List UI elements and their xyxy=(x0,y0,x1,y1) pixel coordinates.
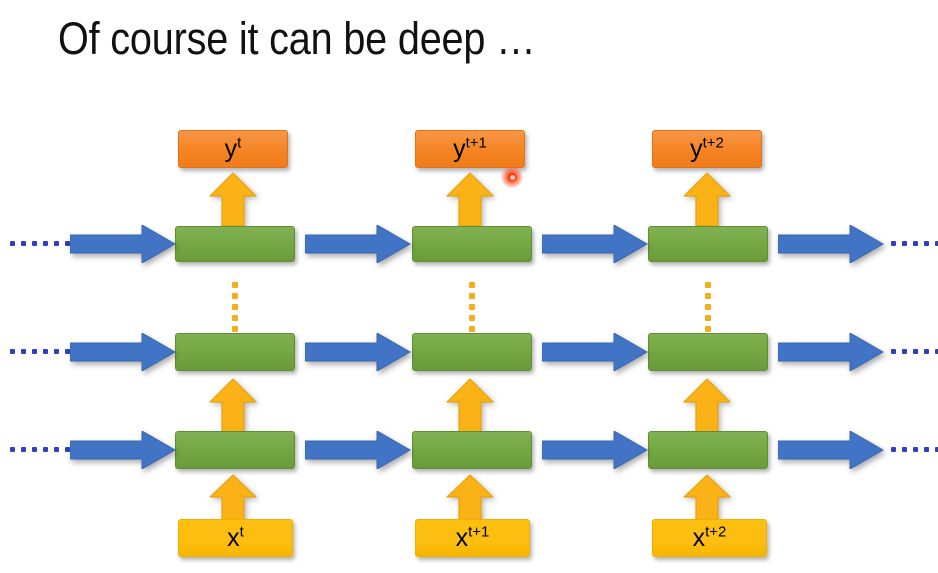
laser-pointer-dot xyxy=(501,166,523,188)
ellipsis-dot xyxy=(32,241,37,246)
ellipsis-right-top xyxy=(891,241,938,246)
output-sup-y-t2: t+2 xyxy=(703,134,724,151)
ellipsis-dot xyxy=(43,241,48,246)
up-arrow-bottom-to-middle-2 xyxy=(446,378,494,433)
hidden-block-top-3 xyxy=(648,226,768,262)
ellipsis-dot xyxy=(891,241,896,246)
right-arrow-top-in xyxy=(70,225,176,263)
ellipsis-dot xyxy=(232,304,238,310)
output-label-y-t2: yt+2 xyxy=(690,137,724,162)
up-arrow-bottom-to-middle-3 xyxy=(683,378,731,433)
output-label-y-t1: yt+1 xyxy=(453,137,487,162)
ellipsis-dot xyxy=(232,326,238,332)
ellipsis-dot xyxy=(10,241,15,246)
hidden-block-bottom-3 xyxy=(648,431,768,469)
ellipsis-right-bottom xyxy=(891,447,938,452)
ellipsis-dot xyxy=(902,349,907,354)
ellipsis-dot xyxy=(21,241,26,246)
ellipsis-dot xyxy=(54,241,59,246)
ellipsis-dot xyxy=(469,282,475,288)
right-arrow-middle-in xyxy=(70,333,176,371)
ellipsis-dot xyxy=(705,304,711,310)
ellipsis-dot xyxy=(924,447,929,452)
output-sup-y-t: t xyxy=(237,134,241,151)
hidden-block-bottom-1 xyxy=(175,431,295,469)
input-box-x-t: xt xyxy=(178,519,293,557)
output-box-y-t: yt xyxy=(178,130,288,168)
ellipsis-dot xyxy=(32,349,37,354)
right-arrow-middle-1-2 xyxy=(305,333,411,371)
right-arrow-bottom-in xyxy=(70,431,176,469)
hidden-block-top-2 xyxy=(412,226,532,262)
up-arrow-hidden-to-output-t2 xyxy=(683,172,731,227)
ellipsis-dot xyxy=(891,447,896,452)
ellipsis-dot xyxy=(10,447,15,452)
hidden-block-bottom-2 xyxy=(412,431,532,469)
ellipsis-dot xyxy=(902,447,907,452)
right-arrow-bottom-out xyxy=(778,431,884,469)
up-arrow-hidden-to-output-t1 xyxy=(446,172,494,227)
ellipsis-left-middle xyxy=(10,349,70,354)
ellipsis-dot xyxy=(705,315,711,321)
page-title: Of course it can be deep … xyxy=(58,8,535,70)
input-sup-x-t2: t+2 xyxy=(705,523,726,540)
ellipsis-dot xyxy=(469,315,475,321)
ellipsis-dot xyxy=(232,282,238,288)
right-arrow-top-2-3 xyxy=(542,225,648,263)
input-sup-x-t: t xyxy=(240,523,244,540)
ellipsis-dot xyxy=(913,349,918,354)
slide-canvas: Of course it can be deep … yt yt+1 yt+2 xyxy=(0,0,938,573)
input-label-x-t2: xt+2 xyxy=(693,526,727,551)
hidden-block-top-1 xyxy=(175,226,295,262)
ellipsis-dot xyxy=(10,349,15,354)
output-sup-y-t1: t+1 xyxy=(466,134,487,151)
ellipsis-left-bottom xyxy=(10,447,70,452)
ellipsis-dot xyxy=(913,447,918,452)
ellipsis-dot xyxy=(902,241,907,246)
output-label-y-t: yt xyxy=(225,137,242,162)
right-arrow-middle-out xyxy=(778,333,884,371)
ellipsis-dot xyxy=(705,293,711,299)
ellipsis-dot xyxy=(21,447,26,452)
input-box-x-t1: xt+1 xyxy=(415,519,530,557)
up-arrow-hidden-to-output-t xyxy=(209,172,257,227)
ellipsis-dot xyxy=(232,293,238,299)
ellipsis-dot xyxy=(54,349,59,354)
input-sup-x-t1: t+1 xyxy=(468,523,489,540)
input-label-x-t: xt xyxy=(227,526,244,551)
right-arrow-bottom-2-3 xyxy=(542,431,648,469)
ellipsis-left-top xyxy=(10,241,70,246)
ellipsis-dot xyxy=(924,349,929,354)
up-arrow-bottom-to-middle-1 xyxy=(209,378,257,433)
ellipsis-dot xyxy=(54,447,59,452)
ellipsis-dot xyxy=(705,282,711,288)
ellipsis-dot xyxy=(21,349,26,354)
ellipsis-dot xyxy=(891,349,896,354)
input-label-x-t1: xt+1 xyxy=(456,526,490,551)
ellipsis-dot xyxy=(469,293,475,299)
right-arrow-middle-2-3 xyxy=(542,333,648,371)
hidden-block-middle-1 xyxy=(175,333,295,371)
ellipsis-dot xyxy=(43,447,48,452)
ellipsis-dot xyxy=(32,447,37,452)
ellipsis-dot xyxy=(913,241,918,246)
ellipsis-dot xyxy=(469,304,475,310)
output-box-y-t2: yt+2 xyxy=(652,130,762,168)
hidden-block-middle-2 xyxy=(412,333,532,371)
output-box-y-t1: yt+1 xyxy=(415,130,525,168)
right-arrow-top-out xyxy=(778,225,884,263)
right-arrow-top-1-2 xyxy=(305,225,411,263)
ellipsis-dot xyxy=(924,241,929,246)
ellipsis-dot xyxy=(705,326,711,332)
hidden-block-middle-3 xyxy=(648,333,768,371)
input-box-x-t2: xt+2 xyxy=(652,519,767,557)
ellipsis-dot xyxy=(469,326,475,332)
ellipsis-dot xyxy=(43,349,48,354)
ellipsis-dot xyxy=(232,315,238,321)
ellipsis-right-middle xyxy=(891,349,938,354)
right-arrow-bottom-1-2 xyxy=(305,431,411,469)
